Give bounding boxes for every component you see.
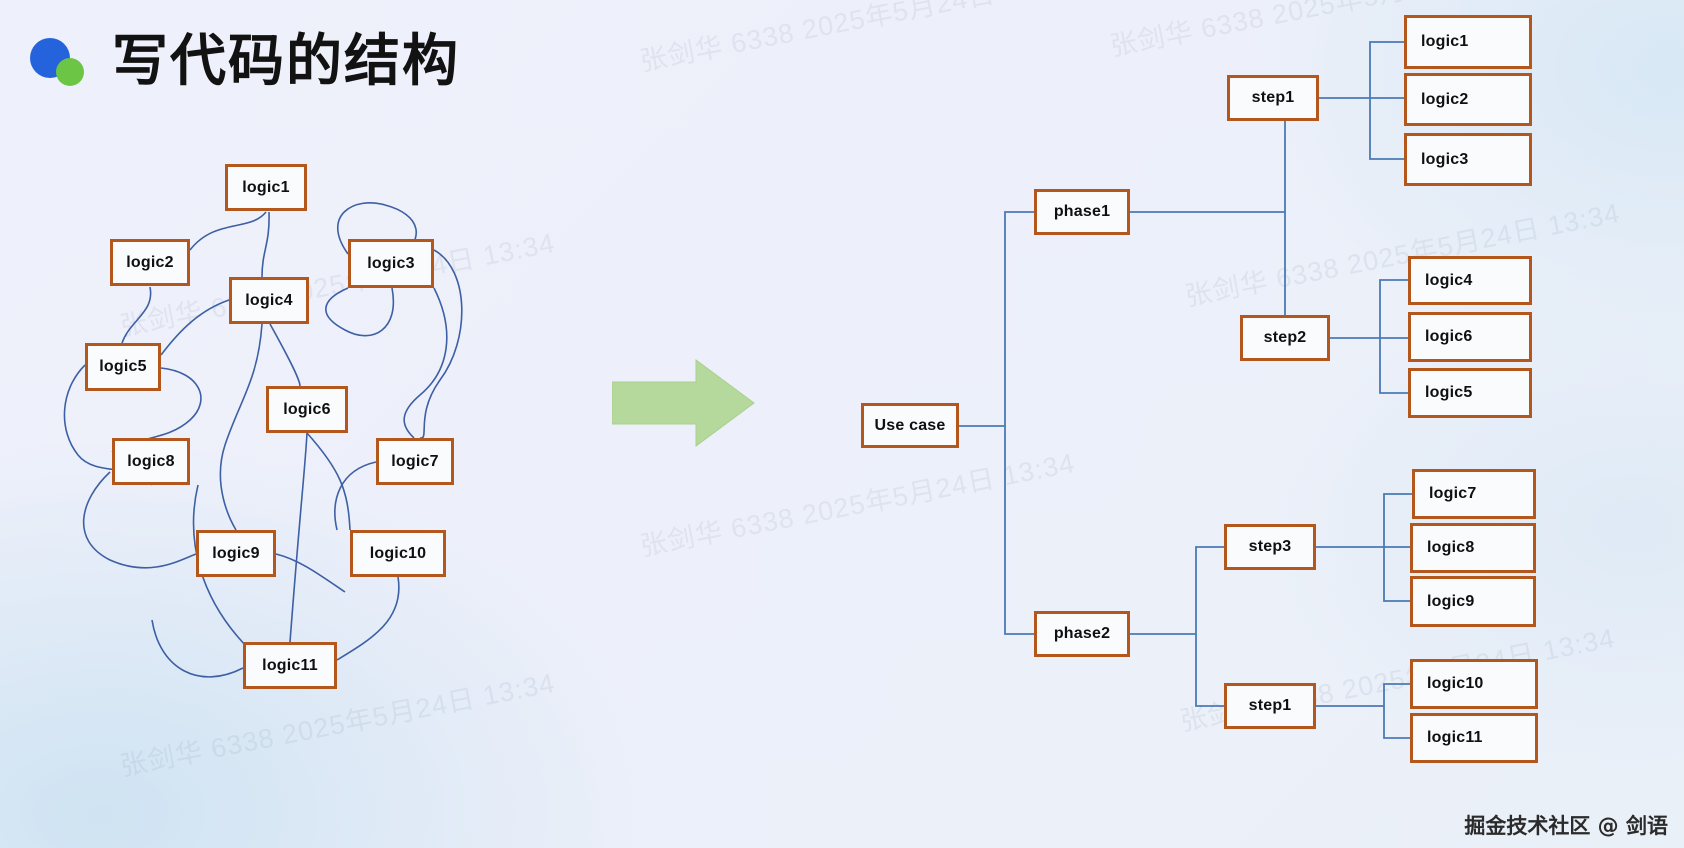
tangle-node-logic3[interactable]: logic3 (348, 239, 434, 288)
tree-node-step-1[interactable]: step2 (1240, 315, 1330, 361)
tangle-node-logic10[interactable]: logic10 (350, 530, 446, 577)
tree-leaf-logic5-5[interactable]: logic5 (1408, 368, 1532, 418)
node-label: logic7 (1429, 485, 1476, 503)
node-label: logic4 (1425, 272, 1472, 290)
tree-leaf-logic10-9[interactable]: logic10 (1410, 659, 1538, 709)
tree-connector (1196, 634, 1224, 706)
tree-leaf-logic8-7[interactable]: logic8 (1410, 523, 1536, 573)
tangle-node-logic1[interactable]: logic1 (225, 164, 307, 211)
tangle-edge (326, 288, 394, 336)
tree-leaf-logic9-8[interactable]: logic9 (1410, 576, 1536, 627)
watermark-text: 张剑华 6338 2025年5月24日 13:34 (1181, 191, 1623, 314)
tree-connector (1370, 42, 1404, 98)
tangle-edge (276, 554, 345, 592)
tangle-edge (270, 324, 300, 386)
page-title: 写代码的结构 (112, 34, 460, 90)
tangle-node-logic4[interactable]: logic4 (229, 277, 309, 324)
tangle-edge (404, 288, 447, 438)
tree-connector (1380, 280, 1408, 338)
node-label: Use case (875, 417, 946, 435)
tree-node-phase2[interactable]: phase2 (1034, 611, 1130, 657)
tree-connector (1005, 426, 1034, 634)
node-label: logic2 (1421, 91, 1468, 109)
tangle-node-logic9[interactable]: logic9 (196, 530, 276, 577)
tangle-edge (84, 472, 196, 568)
node-label: logic11 (262, 657, 318, 675)
node-label: logic1 (1421, 33, 1468, 51)
tree-connector (1384, 494, 1412, 547)
tree-connector (1370, 98, 1404, 159)
tree-node-step-3[interactable]: step1 (1224, 683, 1316, 729)
tangle-node-logic6[interactable]: logic6 (266, 386, 348, 433)
node-label: logic8 (127, 453, 174, 471)
tree-leaf-logic2-1[interactable]: logic2 (1404, 73, 1532, 126)
tree-connector (1005, 212, 1034, 426)
node-label: step1 (1252, 89, 1295, 107)
node-label: logic5 (99, 358, 146, 376)
tangle-edge (161, 300, 229, 355)
tangle-edge (307, 433, 350, 530)
node-label: step3 (1249, 538, 1292, 556)
node-label: logic2 (126, 254, 173, 272)
tree-leaf-logic11-10[interactable]: logic11 (1410, 713, 1538, 763)
slide-canvas: 张剑华 6338 2025年5月24日 13:34张剑华 6338 2025年5… (0, 0, 1684, 848)
tree-node-step-2[interactable]: step3 (1224, 524, 1316, 570)
brand-logo-icon (30, 34, 86, 90)
logo-green-circle (56, 58, 84, 86)
tree-leaf-logic1-0[interactable]: logic1 (1404, 15, 1532, 69)
green-right-arrow (612, 358, 757, 448)
tree-node-use-case[interactable]: Use case (861, 403, 959, 448)
tangle-edge (337, 577, 399, 660)
tangle-node-logic11[interactable]: logic11 (243, 642, 337, 689)
node-label: logic8 (1427, 539, 1474, 557)
node-label: logic3 (367, 255, 414, 273)
tree-connector (1380, 338, 1408, 393)
tangle-edge (190, 212, 266, 250)
tree-connector (1384, 684, 1410, 706)
tree-leaf-logic7-6[interactable]: logic7 (1412, 469, 1536, 519)
tree-leaf-logic6-4[interactable]: logic6 (1408, 312, 1532, 362)
tree-connector (1384, 706, 1410, 738)
node-label: phase1 (1054, 203, 1110, 221)
node-label: phase2 (1054, 625, 1110, 643)
tree-leaf-logic4-3[interactable]: logic4 (1408, 256, 1532, 305)
node-label: logic5 (1425, 384, 1472, 402)
watermark-text: 张剑华 6338 2025年5月24日 13:34 (636, 441, 1078, 564)
arrow-shape (612, 360, 754, 446)
tree-node-step-0[interactable]: step1 (1227, 75, 1319, 121)
tangle-node-logic7[interactable]: logic7 (376, 438, 454, 485)
tangle-edge (220, 324, 262, 530)
tangle-node-logic8[interactable]: logic8 (112, 438, 190, 485)
tangle-edge (335, 462, 376, 530)
node-label: logic1 (242, 179, 289, 197)
node-label: logic3 (1421, 151, 1468, 169)
tangle-edge (290, 433, 307, 642)
node-label: logic9 (1427, 593, 1474, 611)
watermark-text: 张剑华 6338 2025年5月24日 13:34 (636, 0, 1078, 79)
tree-connector (1384, 547, 1410, 601)
tree-node-phase1[interactable]: phase1 (1034, 189, 1130, 235)
node-label: logic9 (212, 545, 259, 563)
tangle-node-logic2[interactable]: logic2 (110, 239, 190, 286)
node-label: logic10 (1427, 675, 1484, 693)
node-label: logic7 (391, 453, 438, 471)
node-label: logic6 (283, 401, 330, 419)
tangle-node-logic5[interactable]: logic5 (85, 343, 161, 391)
node-label: step1 (1249, 697, 1292, 715)
node-label: logic10 (370, 545, 427, 563)
slide-header: 写代码的结构 (30, 34, 460, 90)
tree-connector (1196, 547, 1224, 634)
watermark-text: 张剑华 6338 2025年5月24日 13:34 (116, 661, 558, 784)
node-label: logic11 (1427, 729, 1483, 747)
node-label: step2 (1264, 329, 1307, 347)
tangle-edge (152, 620, 243, 677)
node-label: logic6 (1425, 328, 1472, 346)
node-label: logic4 (245, 292, 292, 310)
tree-leaf-logic3-2[interactable]: logic3 (1404, 133, 1532, 186)
tangle-edge (262, 212, 269, 277)
footer-credit: 掘金技术社区 @ 剑语 (1464, 810, 1668, 840)
tangle-edge (122, 287, 151, 343)
